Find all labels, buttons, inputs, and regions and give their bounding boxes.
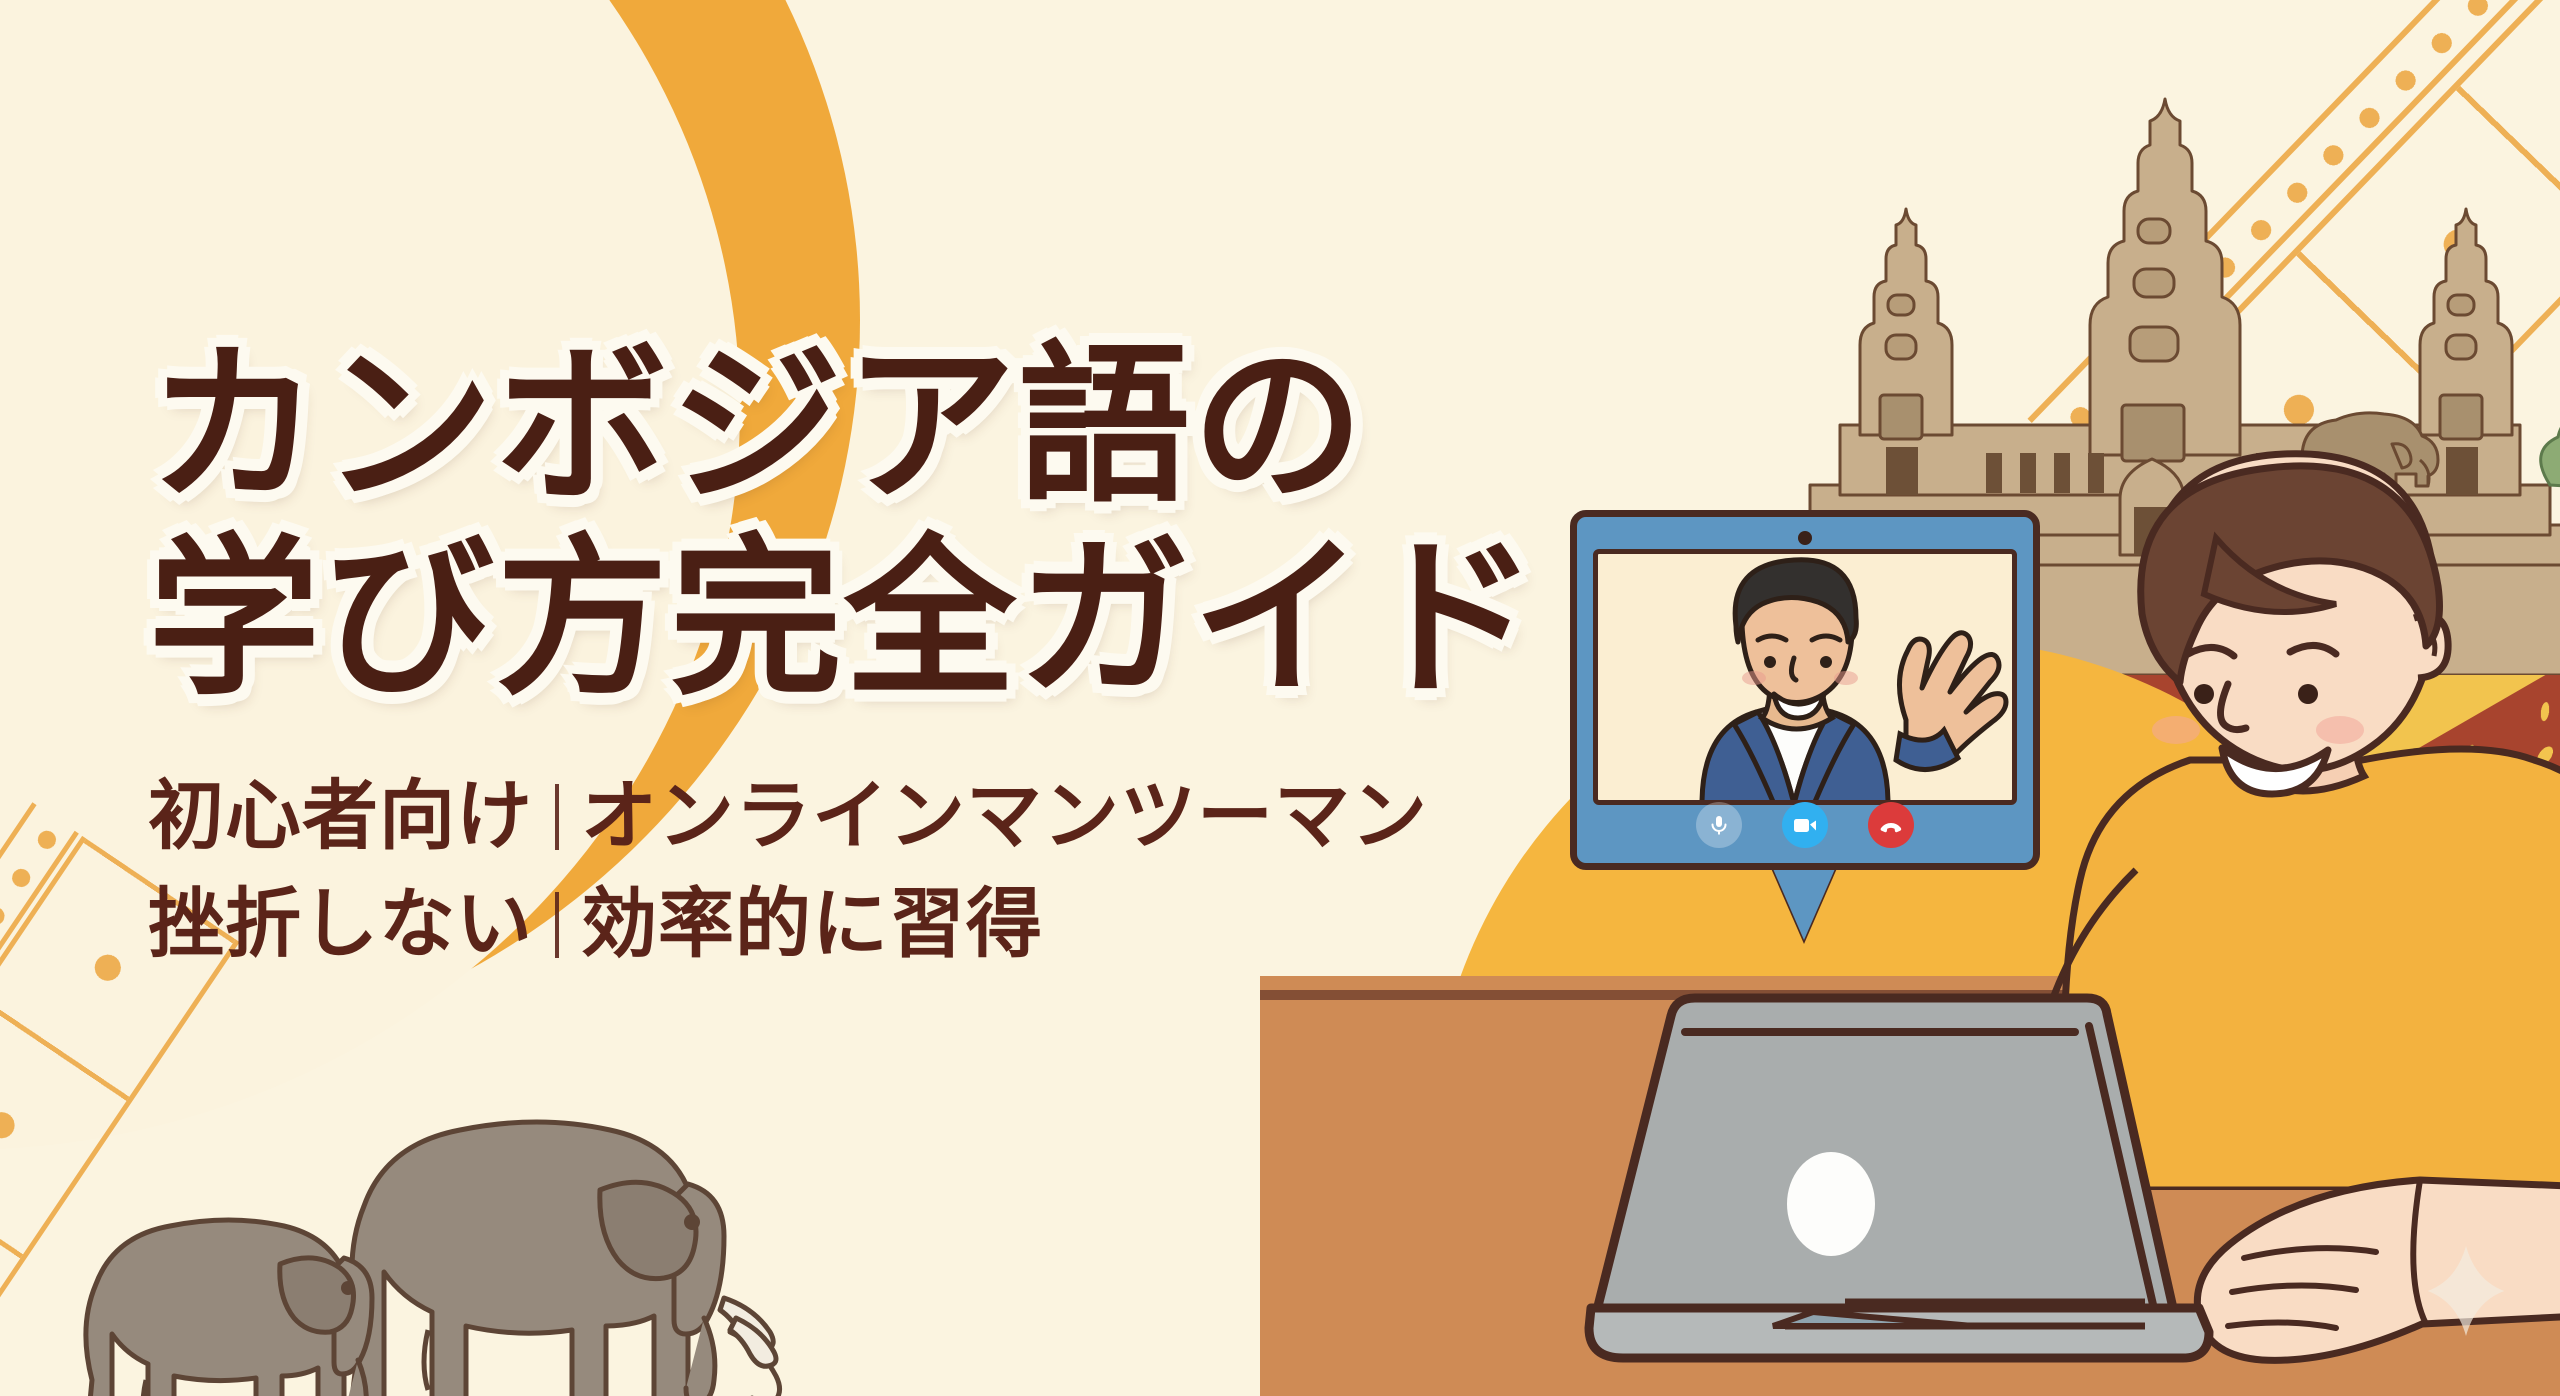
bubble-tail (1770, 862, 1838, 940)
subtitle-divider (555, 784, 559, 850)
subtitle-row: 挫折しない 効率的に習得 (148, 871, 1568, 979)
camera-button[interactable] (1782, 802, 1828, 848)
end-call-button[interactable] (1868, 802, 1914, 848)
tablet-frame (1570, 510, 2040, 870)
title-line-2: 学び方完全ガイド (148, 523, 1568, 716)
subtitle-row: 初心者向け オンラインマンツーマン (148, 763, 1568, 871)
video-screen (1593, 549, 2017, 805)
subtitle-right: 効率的に習得 (581, 871, 1043, 979)
front-camera-icon (1798, 531, 1812, 545)
tutor-avatar (1598, 554, 2017, 804)
subtitle-left: 初心者向け (148, 763, 533, 871)
desk-surface (1260, 976, 2560, 1396)
microphone-icon (1707, 813, 1731, 837)
banner-canvas: カンボジア語の 学び方完全ガイド 初心者向け オンラインマンツーマン 挫折しない… (0, 0, 2560, 1396)
microphone-button[interactable] (1696, 802, 1742, 848)
subtitle-left: 挫折しない (148, 871, 533, 979)
page-title: カンボジア語の 学び方完全ガイド (148, 330, 1568, 715)
title-line-1: カンボジア語の (148, 330, 1568, 523)
video-call-bubble[interactable] (1570, 510, 2040, 870)
video-camera-icon (1792, 815, 1818, 835)
phone-hangup-icon (1878, 812, 1904, 838)
subtitle-right: オンラインマンツーマン (581, 763, 1428, 871)
subtitle-block: 初心者向け オンラインマンツーマン 挫折しない 効率的に習得 (148, 763, 1568, 979)
desk-edge-line (1260, 990, 2560, 1000)
call-controls-bar (1577, 797, 2033, 853)
subtitle-divider (555, 892, 559, 958)
headline-block: カンボジア語の 学び方完全ガイド 初心者向け オンラインマンツーマン 挫折しない… (148, 330, 1568, 979)
